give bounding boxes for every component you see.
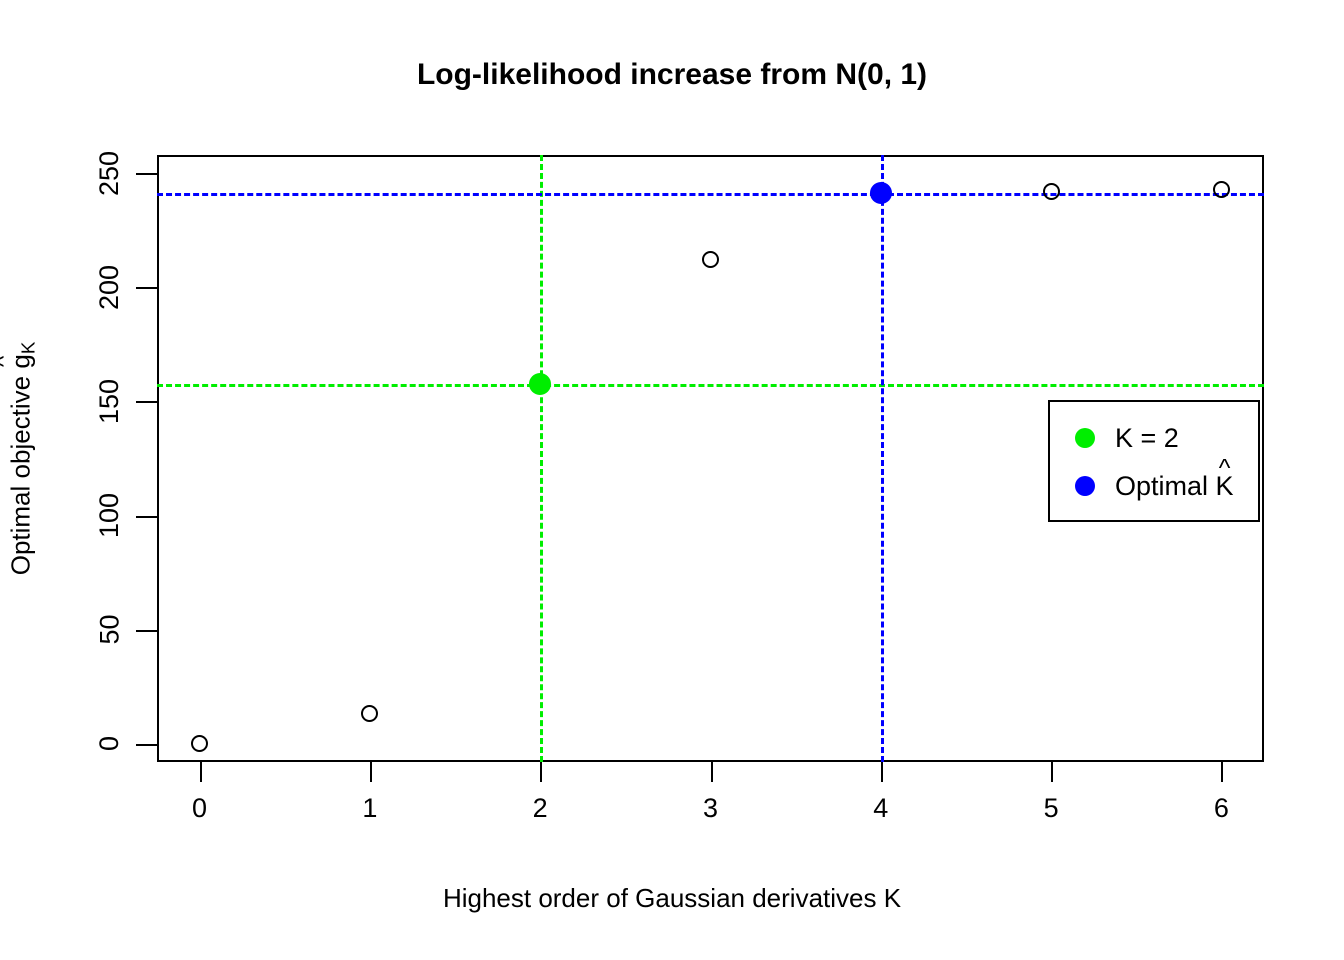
y-axis-label-subscript: K (18, 342, 39, 354)
hat-accent-icon: ^ (1219, 457, 1231, 482)
legend-entry-k2[interactable]: K = 2 (1050, 416, 1262, 460)
chart-canvas: Log-likelihood increase from N(0, 1) Opt… (0, 0, 1344, 960)
y-axis-label-prefix: Optimal objective (6, 369, 36, 576)
reference-line-k2-horizontal (157, 384, 1264, 387)
x-tick-mark (881, 762, 883, 782)
y-axis-label-ghat: ^g (8, 354, 34, 368)
legend-label-prefix: Optimal (1115, 471, 1216, 501)
y-tick-mark (136, 287, 157, 289)
y-axis-label: Optimal objective ^gK (0, 155, 46, 762)
y-tick-mark (136, 516, 157, 518)
x-tick-label: 3 (703, 795, 718, 822)
x-tick-mark (1051, 762, 1053, 782)
x-tick-mark (370, 762, 372, 782)
data-point (361, 705, 378, 722)
x-tick-mark (711, 762, 713, 782)
y-tick-mark (136, 401, 157, 403)
x-tick-label: 0 (192, 795, 207, 822)
legend-marker-circle-icon (1075, 428, 1095, 448)
x-tick-label: 1 (362, 795, 377, 822)
data-point (1213, 181, 1230, 198)
reference-line-optimal-vertical (881, 155, 884, 762)
data-point-optimal-highlight (870, 182, 892, 204)
x-axis-label: Highest order of Gaussian derivatives K (0, 883, 1344, 914)
y-tick-mark (136, 744, 157, 746)
data-point (702, 251, 719, 268)
x-tick-label: 4 (873, 795, 888, 822)
legend-label-khat: ^K (1216, 473, 1234, 500)
chart-title: Log-likelihood increase from N(0, 1) (0, 58, 1344, 92)
x-tick-label: 5 (1044, 795, 1059, 822)
data-point-k2-highlight (529, 373, 551, 395)
data-point (1043, 183, 1060, 200)
x-tick-mark (540, 762, 542, 782)
x-tick-mark (1221, 762, 1223, 782)
x-tick-label: 6 (1214, 795, 1229, 822)
legend-label: Optimal ^K (1115, 473, 1234, 500)
x-tick-label: 2 (533, 795, 548, 822)
legend-entry-optimal[interactable]: Optimal ^K (1050, 464, 1262, 508)
legend-label: K = 2 (1115, 425, 1179, 452)
y-tick-mark (136, 173, 157, 175)
legend-marker-circle-icon (1075, 476, 1095, 496)
legend-box: K = 2Optimal ^K (1048, 400, 1260, 522)
reference-line-optimal-horizontal (157, 193, 1264, 196)
hat-accent-icon: ^ (0, 356, 17, 367)
data-point (191, 735, 208, 752)
reference-line-k2-vertical (540, 155, 543, 762)
y-tick-mark (136, 630, 157, 632)
x-tick-mark (200, 762, 202, 782)
